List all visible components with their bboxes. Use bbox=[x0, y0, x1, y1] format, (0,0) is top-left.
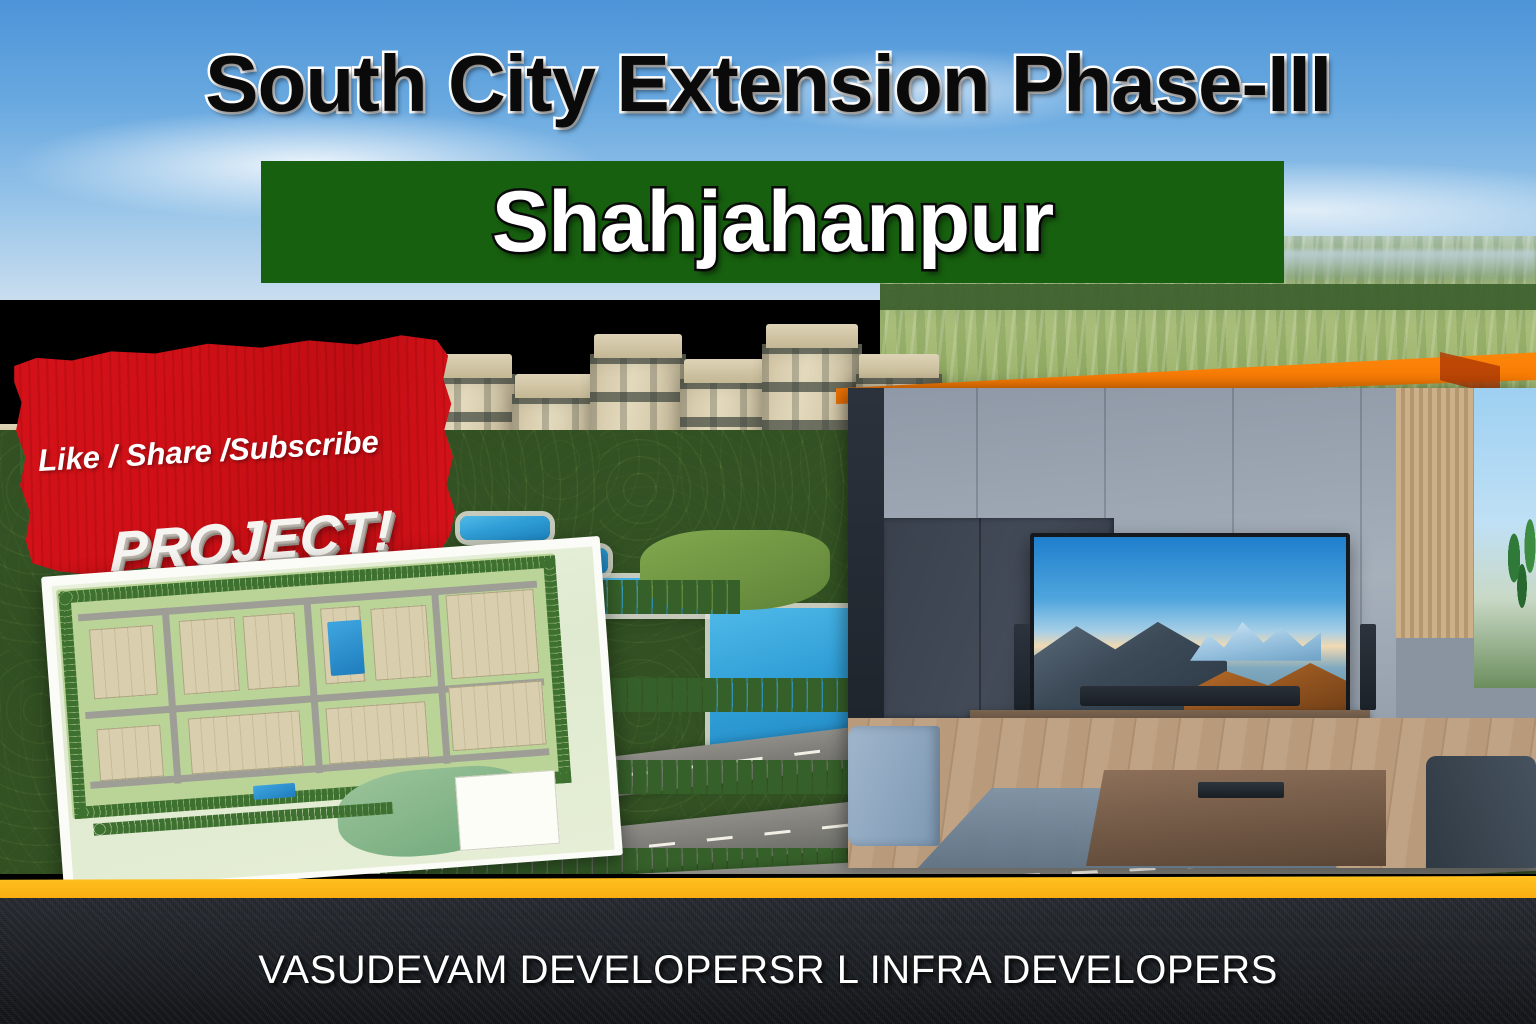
wall-shadow-edge bbox=[848, 388, 884, 718]
poster-title: South City Extension Phase-III bbox=[0, 38, 1536, 130]
interior-photo-panel bbox=[848, 388, 1536, 868]
tower-speaker-right bbox=[1360, 624, 1376, 710]
wood-slat-panel bbox=[1396, 388, 1474, 638]
mountain-peaks bbox=[1190, 613, 1321, 660]
city-name: Shahjahanpur bbox=[492, 173, 1053, 272]
sofa-right bbox=[1426, 756, 1536, 868]
indoor-plant bbox=[1500, 498, 1536, 638]
city-banner: Shahjahanpur bbox=[261, 161, 1284, 283]
masterplan-sheet bbox=[41, 536, 623, 896]
media-device bbox=[1198, 782, 1284, 798]
footer-bar: VASUDEVAM DEVELOPERSR L INFRA DEVELOPERS bbox=[0, 898, 1536, 1024]
poster-canvas: South City Extension Phase-III Shahjahan… bbox=[0, 0, 1536, 1024]
tower-speaker-left bbox=[1014, 624, 1030, 710]
masterplan-drawing bbox=[52, 546, 615, 889]
soundbar bbox=[1080, 686, 1300, 706]
developer-names: VASUDEVAM DEVELOPERSR L INFRA DEVELOPERS bbox=[258, 948, 1278, 993]
sofa-left bbox=[848, 726, 940, 846]
